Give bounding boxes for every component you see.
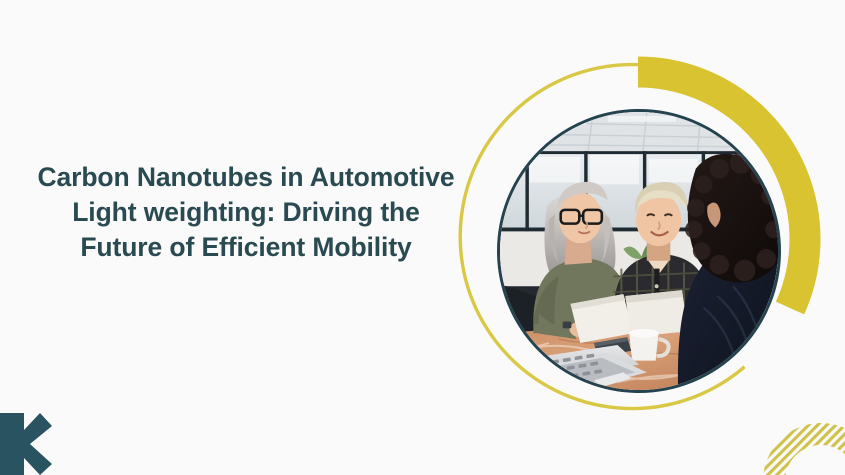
striped-yellow-ring [745, 405, 845, 475]
thick-yellow-arc-lower [790, 239, 805, 308]
teal-chevron-mark [0, 408, 52, 475]
page-title-line-2: Light weighting: Driving the [6, 195, 486, 230]
striped-ring-band [745, 405, 845, 475]
chevron-shape [0, 413, 52, 475]
article-banner: Carbon Nanotubes in Automotive Light wei… [0, 0, 845, 475]
office-meeting-photo [500, 112, 778, 390]
page-title: Carbon Nanotubes in Automotive Light wei… [6, 160, 486, 265]
page-title-line-3: Future of Efficient Mobility [6, 230, 486, 265]
page-title-line-1: Carbon Nanotubes in Automotive [6, 160, 486, 195]
photo-circle [497, 109, 781, 393]
